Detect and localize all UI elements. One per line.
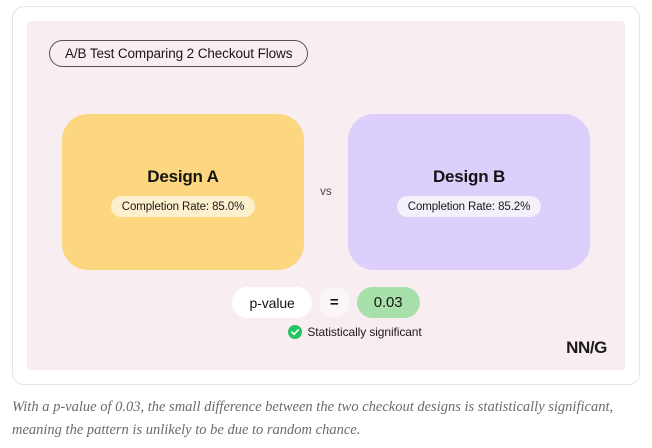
pvalue-block: p-value = 0.03 Statistically significant	[27, 287, 625, 339]
design-b-title: Design B	[433, 167, 505, 187]
figure-panel: A/B Test Comparing 2 Checkout Flows Desi…	[27, 21, 625, 370]
design-card-a: Design A Completion Rate: 85.0%	[62, 114, 304, 270]
design-a-title: Design A	[147, 167, 218, 187]
significance-row: Statistically significant	[230, 325, 421, 339]
figure-page: A/B Test Comparing 2 Checkout Flows Desi…	[0, 0, 652, 448]
figure-title-pill: A/B Test Comparing 2 Checkout Flows	[49, 40, 308, 67]
design-comparison-row: Design A Completion Rate: 85.0% vs Desig…	[27, 114, 625, 270]
significance-text: Statistically significant	[307, 325, 421, 339]
figure-frame: A/B Test Comparing 2 Checkout Flows Desi…	[12, 6, 640, 385]
design-card-b: Design B Completion Rate: 85.2%	[348, 114, 590, 270]
pvalue-row: p-value = 0.03	[232, 287, 419, 318]
nng-logo: NN/G	[566, 338, 607, 358]
equals-sign: =	[319, 287, 350, 318]
design-b-completion-rate-pill: Completion Rate: 85.2%	[397, 196, 541, 217]
figure-caption: With a p-value of 0.03, the small differ…	[12, 396, 640, 443]
design-a-completion-rate-pill: Completion Rate: 85.0%	[111, 196, 255, 217]
check-circle-icon	[288, 325, 302, 339]
pvalue-value-pill: 0.03	[357, 287, 420, 318]
versus-label: vs	[304, 114, 348, 270]
pvalue-label-pill: p-value	[232, 287, 311, 318]
